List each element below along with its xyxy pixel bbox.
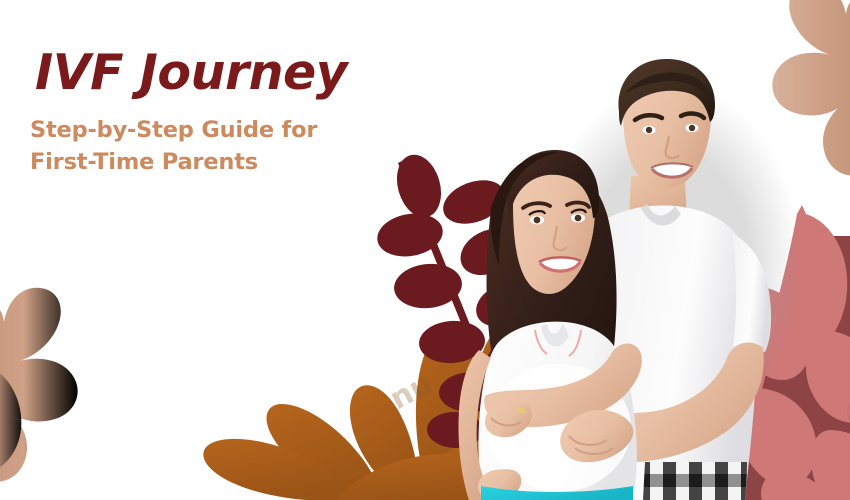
text-block: IVF Journey Step-by-Step Guide for First…: [30, 48, 390, 179]
tan-leaf-left-icon: [0, 288, 78, 482]
page-subtitle: Step-by-Step Guide for First-Time Parent…: [30, 115, 390, 179]
page-title: IVF Journey: [35, 48, 390, 97]
couple-photo: [455, 58, 795, 500]
ivf-journey-banner: nu: [0, 0, 850, 500]
subtitle-line-1: Step-by-Step Guide for: [30, 115, 390, 147]
subtitle-line-2: First-Time Parents: [30, 147, 390, 179]
